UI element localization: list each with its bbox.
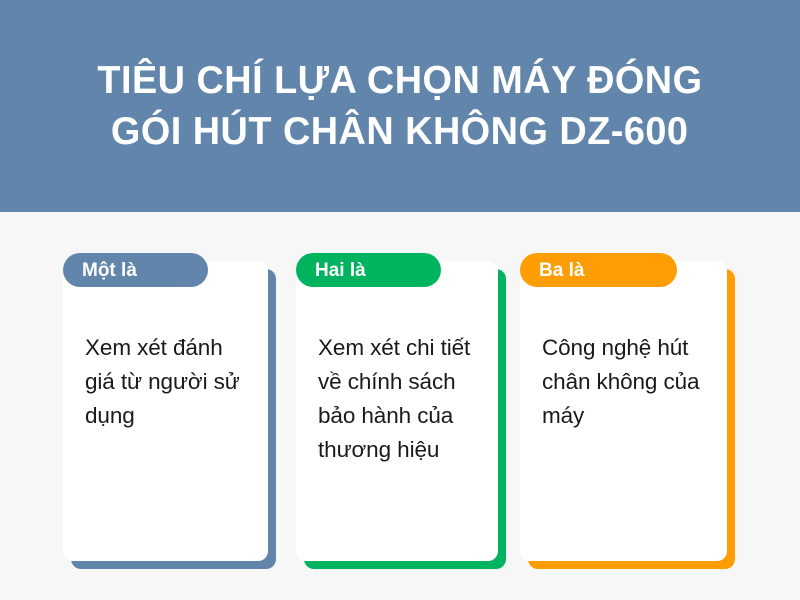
card-two-badge-label: Hai là [315,261,366,280]
card-one-body: Xem xét đánh giá từ người sử dụng [63,261,268,561]
infographic-page: TIÊU CHÍ LỰA CHỌN MÁY ĐÓNG GÓI HÚT CHÂN … [0,0,800,600]
card-three-body: Công nghệ hút chân không của máy [520,261,727,561]
card-three-text: Công nghệ hút chân không của máy [542,331,709,433]
cards-row: Xem xét đánh giá từ người sử dụng Một là… [0,212,800,600]
card-one-text: Xem xét đánh giá từ người sử dụng [85,331,250,433]
card-two-body: Xem xét chi tiết về chính sách bảo hành … [296,261,498,561]
header-banner: TIÊU CHÍ LỰA CHỌN MÁY ĐÓNG GÓI HÚT CHÂN … [0,0,800,212]
card-two-badge: Hai là [296,253,441,287]
page-title-line-1: TIÊU CHÍ LỰA CHỌN MÁY ĐÓNG [97,55,702,106]
page-title-line-2: GÓI HÚT CHÂN KHÔNG DZ-600 [111,106,689,157]
card-one-badge-label: Một là [82,261,137,280]
card-three-badge-label: Ba là [539,261,584,280]
card-one-badge: Một là [63,253,208,287]
card-two-text: Xem xét chi tiết về chính sách bảo hành … [318,331,480,467]
card-three-badge: Ba là [520,253,677,287]
